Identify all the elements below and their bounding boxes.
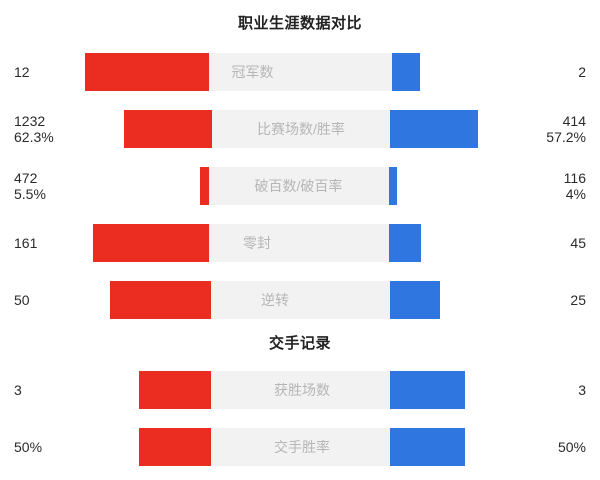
stat-right-value: 50% xyxy=(515,439,600,455)
stat-bar-left xyxy=(200,167,209,205)
stat-track-wrap: 冠军数 xyxy=(85,53,515,91)
stat-left-value: 161 xyxy=(0,235,85,251)
stat-right-value: 3 xyxy=(515,382,600,398)
stat-bar-right xyxy=(389,224,421,262)
stat-track xyxy=(200,167,397,205)
stat-row[interactable]: 50%交手胜率50% xyxy=(0,428,600,466)
career-section-title: 职业生涯数据对比 xyxy=(0,12,600,33)
stat-row[interactable]: 3获胜场数3 xyxy=(0,371,600,409)
stat-track-wrap: 破百数/破百率 xyxy=(85,167,515,205)
stat-left-value: 50 xyxy=(0,292,85,308)
stat-left-value: 12 xyxy=(0,64,85,80)
stat-bar-right xyxy=(389,167,397,205)
stat-bar-right xyxy=(390,371,465,409)
stat-row[interactable]: 50逆转25 xyxy=(0,281,600,319)
stat-bar-right xyxy=(390,110,478,148)
stat-row[interactable]: 161零封45 xyxy=(0,224,600,262)
stats-comparison-board: 职业生涯数据对比 交手记录 12冠军数21232 62.3%比赛场数/胜率414… xyxy=(0,0,600,480)
stat-right-value: 2 xyxy=(515,64,600,80)
stat-bar-right xyxy=(390,281,440,319)
stat-right-value: 25 xyxy=(515,292,600,308)
stat-right-value: 45 xyxy=(515,235,600,251)
stat-bar-right xyxy=(392,53,420,91)
stat-left-value: 1232 62.3% xyxy=(0,113,85,145)
stat-bar-left xyxy=(139,371,211,409)
stat-right-value: 414 57.2% xyxy=(515,113,600,145)
stat-left-value: 472 5.5% xyxy=(0,170,85,202)
stat-bar-right xyxy=(390,428,465,466)
head-to-head-section-title: 交手记录 xyxy=(0,332,600,353)
stat-track-wrap: 比赛场数/胜率 xyxy=(85,110,515,148)
stat-bar-left xyxy=(139,428,211,466)
stat-row[interactable]: 1232 62.3%比赛场数/胜率414 57.2% xyxy=(0,110,600,148)
stat-track-wrap: 零封 xyxy=(85,224,515,262)
stat-track-wrap: 逆转 xyxy=(85,281,515,319)
stat-row[interactable]: 472 5.5%破百数/破百率116 4% xyxy=(0,167,600,205)
stat-track-wrap: 交手胜率 xyxy=(85,428,515,466)
stat-left-value: 3 xyxy=(0,382,85,398)
stat-bar-left xyxy=(110,281,211,319)
stat-left-value: 50% xyxy=(0,439,85,455)
stat-track-wrap: 获胜场数 xyxy=(85,371,515,409)
stat-bar-left xyxy=(93,224,209,262)
stat-row[interactable]: 12冠军数2 xyxy=(0,53,600,91)
stat-bar-left xyxy=(85,53,209,91)
stat-bar-left xyxy=(124,110,212,148)
stat-right-value: 116 4% xyxy=(515,170,600,202)
